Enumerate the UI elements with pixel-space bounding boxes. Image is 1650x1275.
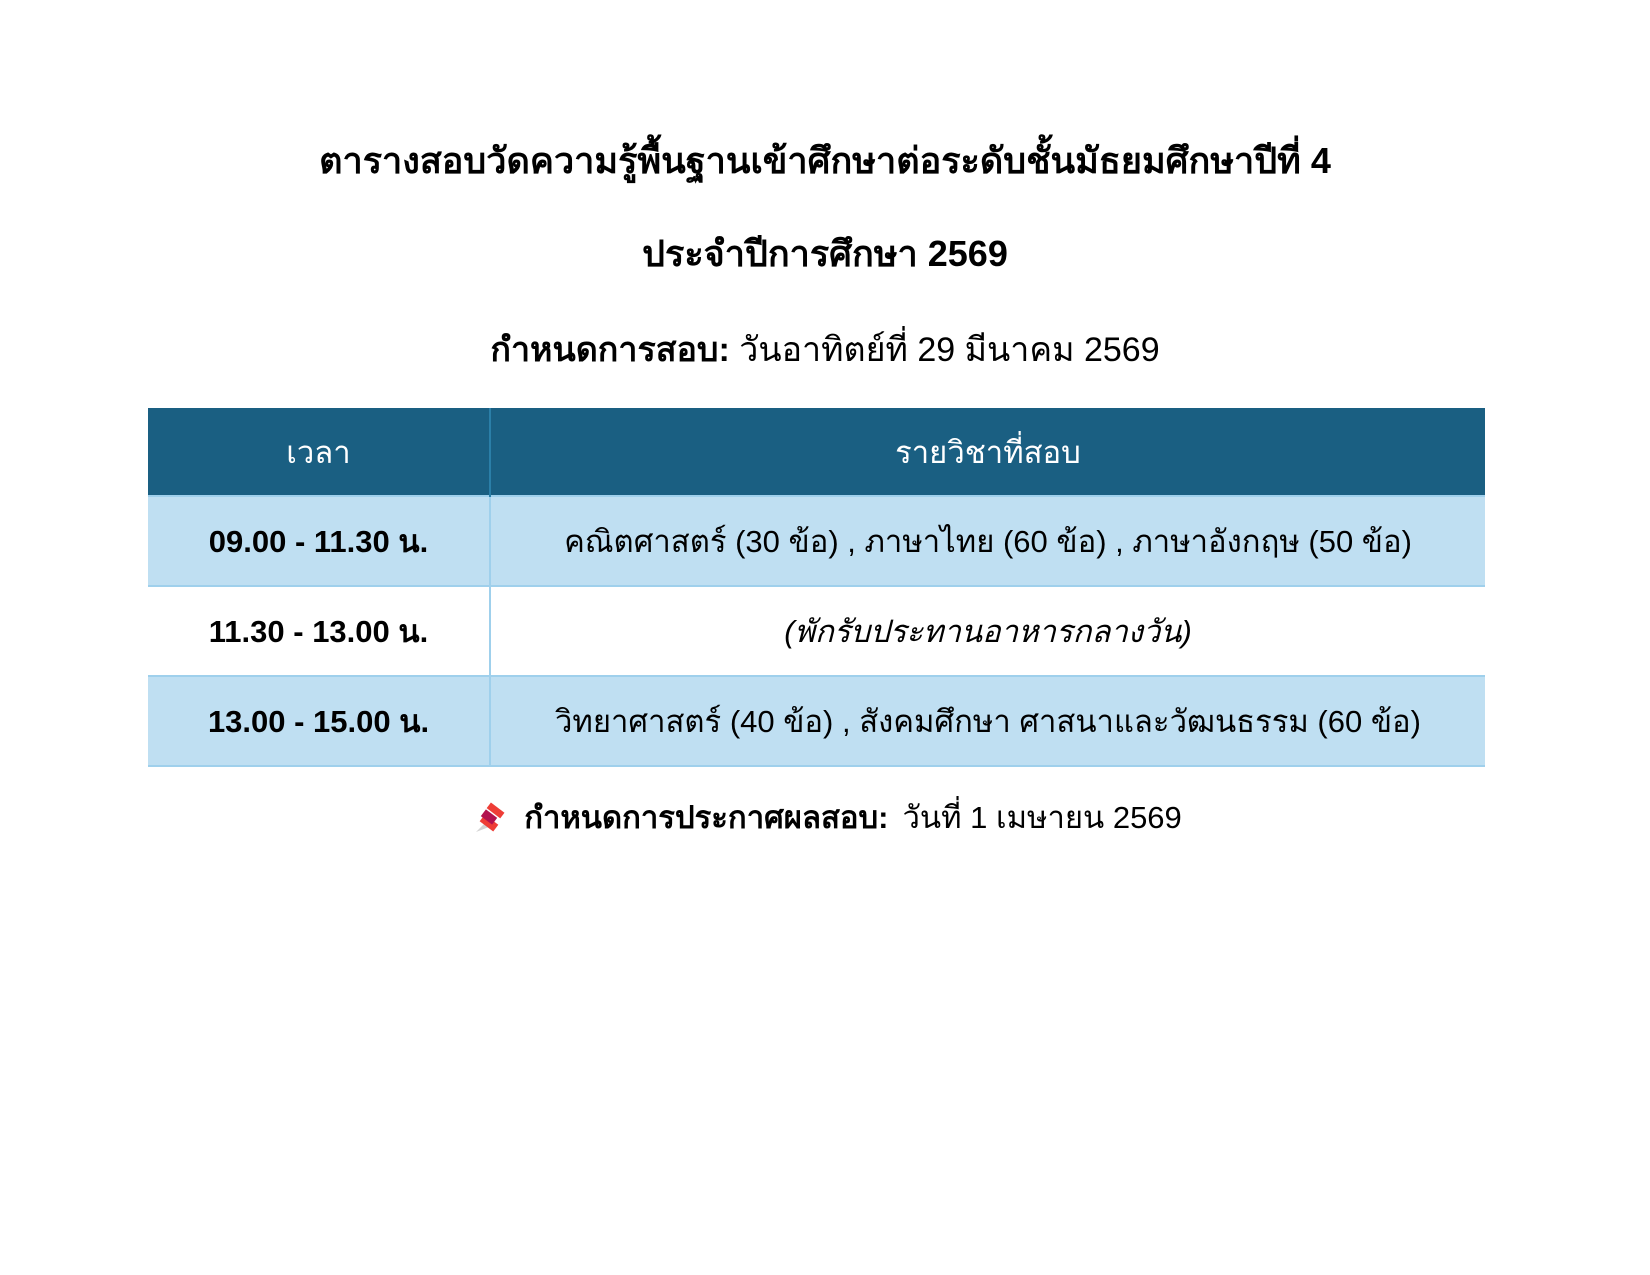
table-row: 09.00 - 11.30 น. คณิตศาสตร์ (30 ข้อ) , ภ… (148, 496, 1485, 586)
cell-subjects: วิทยาศาสตร์ (40 ข้อ) , สังคมศึกษา ศาสนาแ… (490, 676, 1485, 766)
pushpin-icon (468, 796, 510, 838)
cell-subjects: (พักรับประทานอาหารกลางวัน) (490, 586, 1485, 676)
cell-time: 11.30 - 13.00 น. (148, 586, 490, 676)
table-header: เวลา รายวิชาที่สอบ (148, 408, 1485, 496)
table-row: 13.00 - 15.00 น. วิทยาศาสตร์ (40 ข้อ) , … (148, 676, 1485, 766)
cell-time: 13.00 - 15.00 น. (148, 676, 490, 766)
table-body: 09.00 - 11.30 น. คณิตศาสตร์ (30 ข้อ) , ภ… (148, 496, 1485, 766)
table-row: 11.30 - 13.00 น. (พักรับประทานอาหารกลางว… (148, 586, 1485, 676)
results-announcement-note: กำหนดการประกาศผลสอบ: วันที่ 1 เมษายน 256… (0, 792, 1650, 842)
exam-date-label: กำหนดการสอบ: (490, 331, 729, 369)
column-header-subjects: รายวิชาที่สอบ (490, 408, 1485, 496)
page-title: ตารางสอบวัดความรู้พื้นฐานเข้าศึกษาต่อระด… (0, 138, 1650, 276)
cell-time: 09.00 - 11.30 น. (148, 496, 490, 586)
results-announcement-value: วันที่ 1 เมษายน 2569 (902, 792, 1181, 842)
cell-subjects: คณิตศาสตร์ (30 ข้อ) , ภาษาไทย (60 ข้อ) ,… (490, 496, 1485, 586)
exam-schedule-table: เวลา รายวิชาที่สอบ 09.00 - 11.30 น. คณิต… (148, 408, 1485, 767)
table-header-row: เวลา รายวิชาที่สอบ (148, 408, 1485, 496)
exam-date-line: กำหนดการสอบ: วันอาทิตย์ที่ 29 มีนาคม 256… (0, 322, 1650, 376)
results-announcement-label: กำหนดการประกาศผลสอบ: (524, 792, 888, 842)
exam-date-value: วันอาทิตย์ที่ 29 มีนาคม 2569 (739, 331, 1159, 369)
exam-schedule-page: ตารางสอบวัดความรู้พื้นฐานเข้าศึกษาต่อระด… (0, 0, 1650, 1275)
title-line-secondary: ประจำปีการศึกษา 2569 (0, 231, 1650, 276)
title-line-primary: ตารางสอบวัดความรู้พื้นฐานเข้าศึกษาต่อระด… (0, 138, 1650, 183)
column-header-time: เวลา (148, 408, 490, 496)
